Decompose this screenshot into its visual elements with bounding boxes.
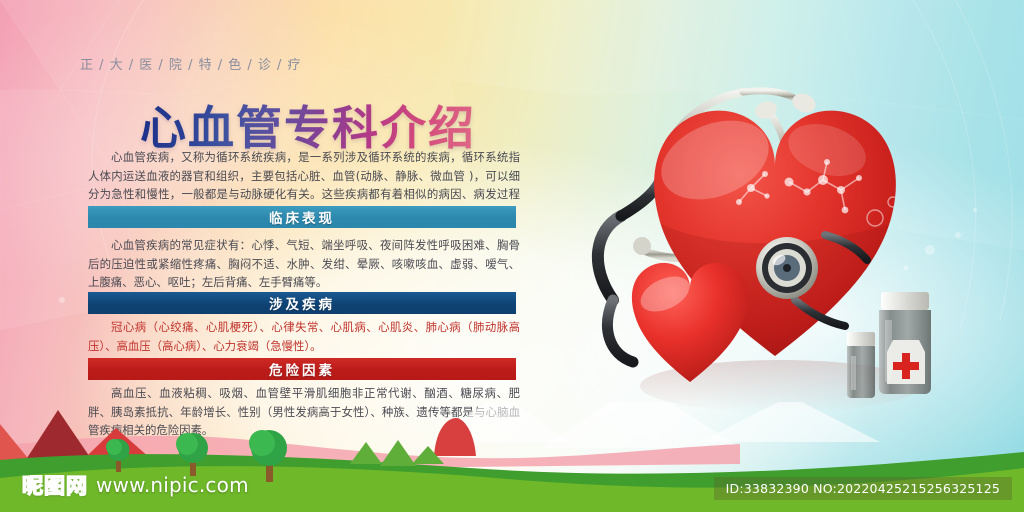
section-heading-risk-factors: 危险因素 (88, 358, 516, 380)
small-medicine-bottle (847, 332, 875, 398)
section-heading-diseases: 涉及疾病 (88, 292, 516, 314)
watermark: 昵图网 www.nipic.com (22, 470, 249, 500)
large-medicine-bottle (879, 292, 931, 394)
pine-silhouettes (350, 440, 444, 466)
id-badge: ID:33832390 NO:20220425215256325125 (714, 477, 1012, 500)
eyebrow-text: 正 / 大 / 医 / 院 / 特 / 色 / 诊 / 疗 (80, 54, 302, 73)
poster-canvas: 正 / 大 / 医 / 院 / 特 / 色 / 诊 / 疗 心血管专科介绍 心血… (0, 0, 1024, 512)
section-heading-clinical: 临床表现 (88, 206, 516, 228)
watermark-url: www.nipic.com (96, 473, 249, 497)
section-body-clinical: 心血管疾病的常见症状有：心悸、气短、端坐呼吸、夜间阵发性呼吸困难、胸骨后的压迫性… (88, 236, 520, 292)
heart-stethoscope-illustration (575, 70, 975, 445)
section-body-diseases: 冠心病（心绞痛、心肌梗死）、心律失常、心肌病、心肌炎、肺心病（肺动脉高压）、高血… (88, 318, 520, 355)
watermark-brand-cn: 昵图网 (22, 470, 88, 500)
